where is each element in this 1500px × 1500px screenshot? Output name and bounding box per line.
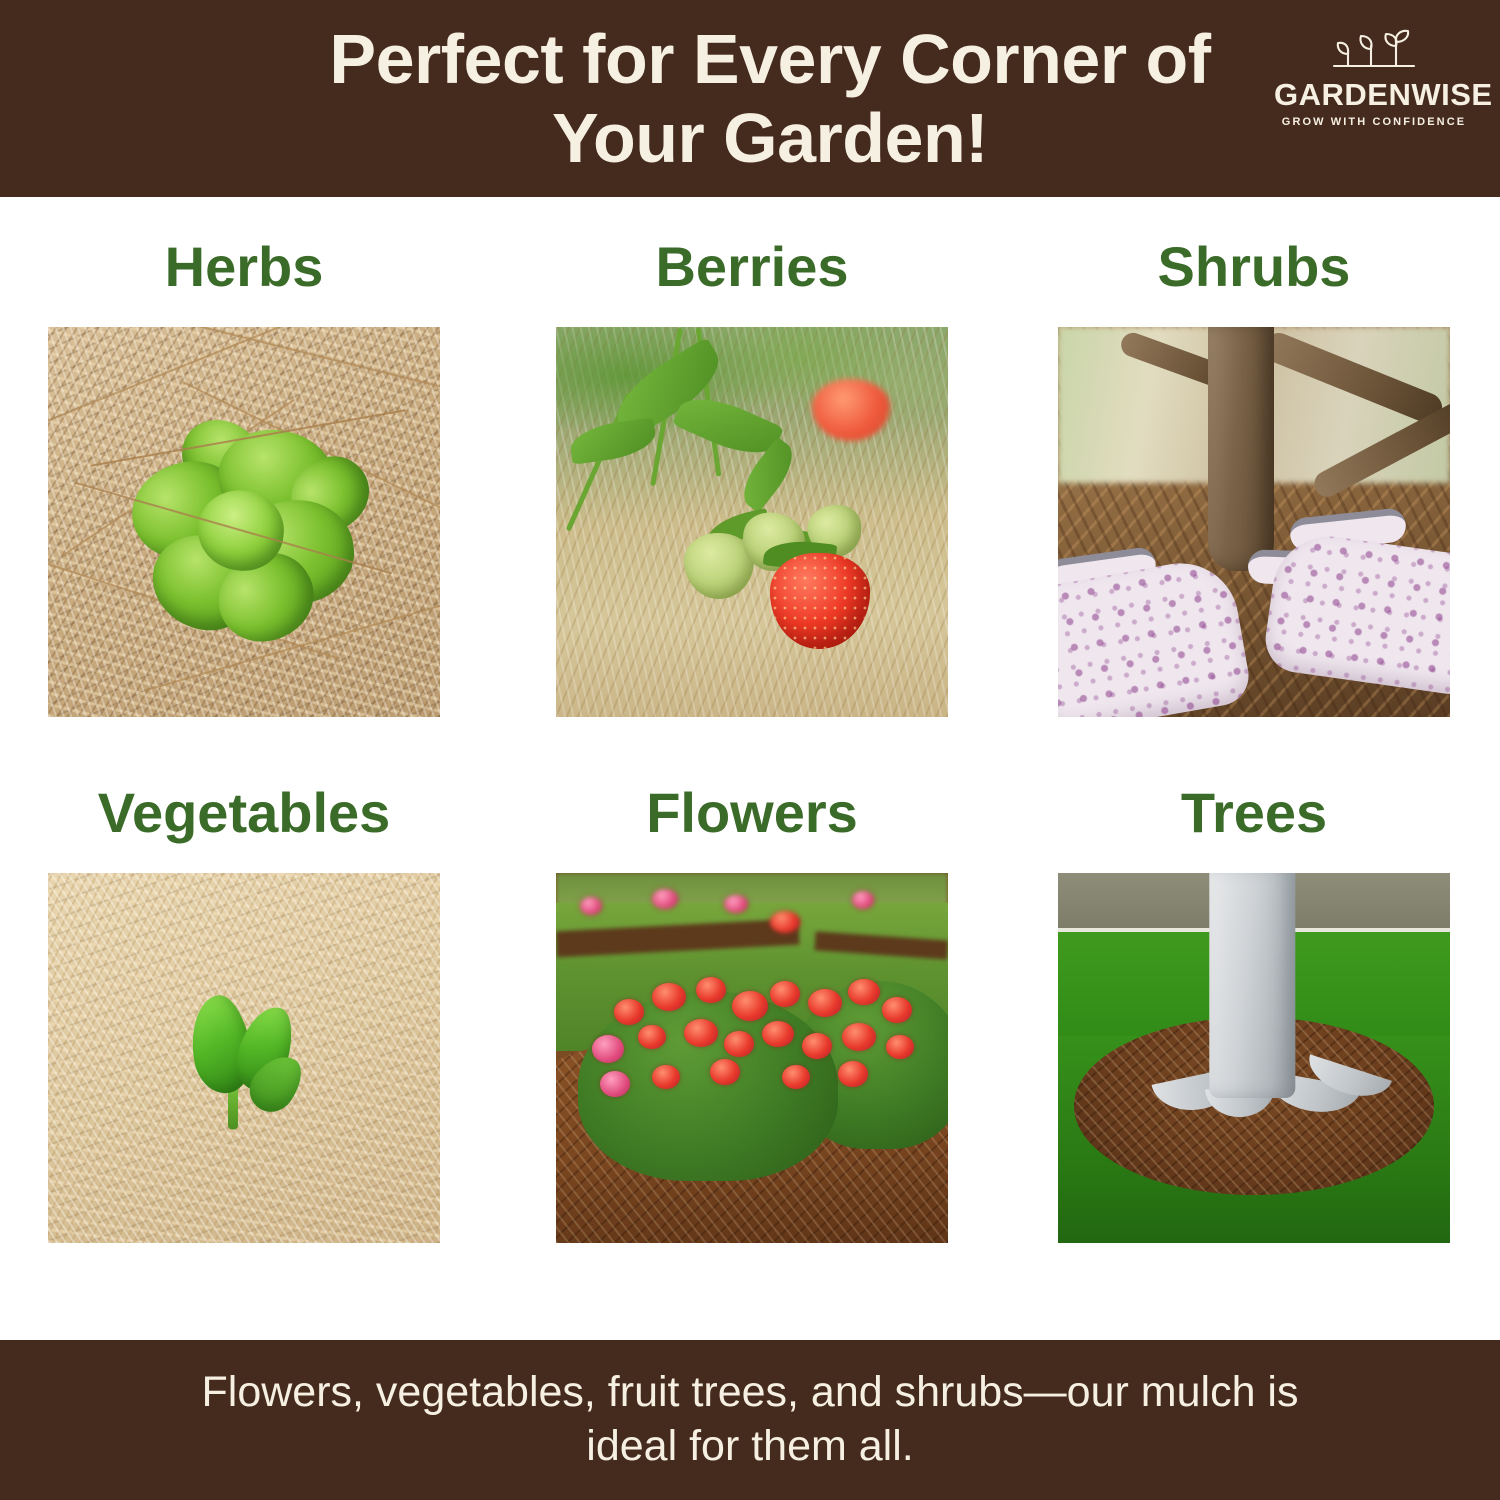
herbs-photo [48, 327, 440, 717]
footer-band: Flowers, vegetables, fruit trees, and sh… [0, 1340, 1500, 1500]
shrub-trunk [1208, 327, 1274, 571]
category-label-vegetables: Vegetables [48, 785, 440, 841]
category-label-trees: Trees [1058, 785, 1450, 841]
shrubs-photo [1058, 327, 1450, 717]
category-label-berries: Berries [556, 239, 948, 295]
category-cell-flowers: Flowers [556, 785, 948, 1245]
category-label-herbs: Herbs [48, 239, 440, 295]
gardening-glove-left [1058, 554, 1253, 717]
category-grid: Herbs [0, 197, 1500, 1340]
footer-line-1: Flowers, vegetables, fruit trees, and sh… [70, 1366, 1430, 1420]
headline-line-2: Your Garden! [200, 99, 1340, 177]
vegetable-seedling [174, 995, 314, 1131]
logo-wordmark: GARDENWISE [1274, 79, 1474, 110]
page-title: Perfect for Every Corner of Your Garden! [160, 20, 1340, 177]
gardening-glove-right [1261, 529, 1450, 697]
category-cell-berries: Berries [556, 239, 948, 717]
category-label-flowers: Flowers [556, 785, 948, 841]
vegetables-photo [48, 873, 440, 1243]
category-cell-vegetables: Vegetables [48, 785, 440, 1245]
category-cell-trees: Trees [1058, 785, 1450, 1245]
sprout-seedlings-icon [1318, 28, 1430, 74]
headline-line-1: Perfect for Every Corner of [200, 20, 1340, 98]
footer-line-2: ideal for them all. [70, 1420, 1430, 1474]
logo-tagline: GROW WITH CONFIDENCE [1274, 117, 1474, 128]
brand-logo: GARDENWISE GROW WITH CONFIDENCE [1274, 28, 1474, 128]
trees-photo [1058, 873, 1450, 1243]
berries-photo [556, 327, 948, 717]
category-cell-shrubs: Shrubs [1058, 239, 1450, 717]
category-label-shrubs: Shrubs [1058, 239, 1450, 295]
header-band: Perfect for Every Corner of Your Garden!… [0, 0, 1500, 197]
herb-plant [122, 418, 357, 633]
footer-caption: Flowers, vegetables, fruit trees, and sh… [70, 1366, 1430, 1474]
promo-banner: Perfect for Every Corner of Your Garden!… [0, 0, 1500, 1500]
category-cell-herbs: Herbs [48, 239, 440, 717]
ripe-strawberry [770, 553, 870, 649]
flowers-photo [556, 873, 948, 1243]
tree-trunk [1209, 873, 1295, 1098]
